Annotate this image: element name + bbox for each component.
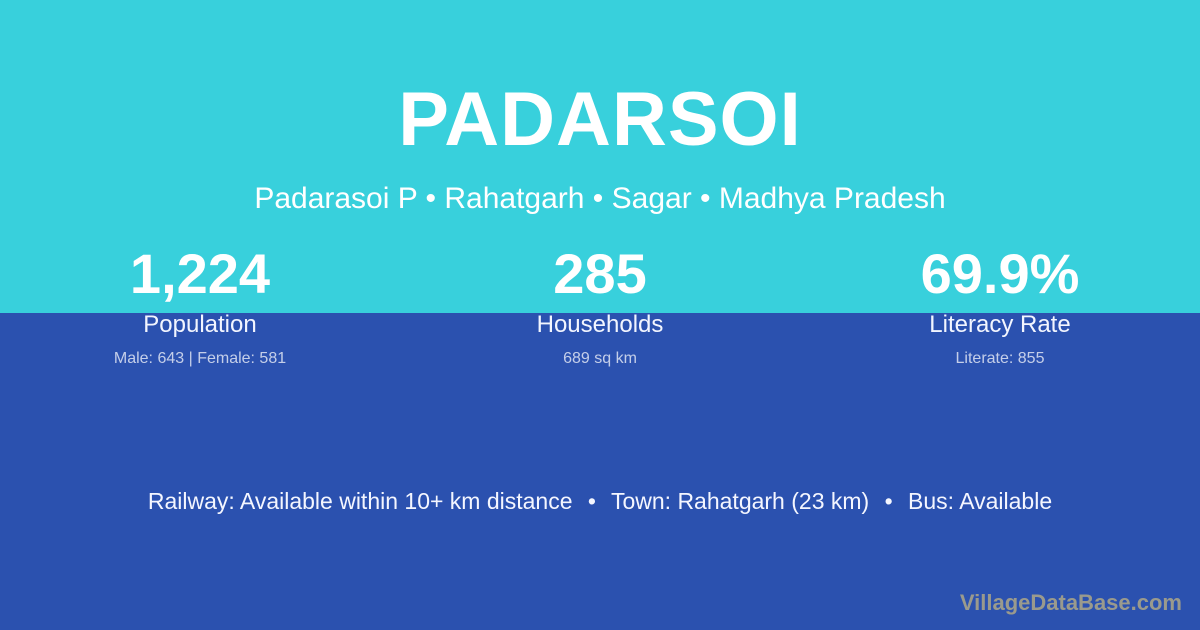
stat-population-label: Population — [0, 310, 400, 340]
amenity-railway: Railway: Available within 10+ km distanc… — [148, 488, 573, 514]
stat-households-value: 285 — [400, 243, 800, 305]
stat-population-value: 1,224 — [0, 243, 400, 305]
stat-literacy-rate-label: Literacy Rate — [800, 310, 1200, 340]
breadcrumb: Padarasoi P • Rahatgarh • Sagar • Madhya… — [0, 181, 1200, 217]
stat-population: 1,224 Population Male: 643 | Female: 581 — [0, 243, 400, 370]
stat-households: 285 Households 689 sq km — [400, 243, 800, 370]
stat-households-label: Households — [400, 310, 800, 340]
amenity-bus: Bus: Available — [908, 488, 1052, 514]
amenity-separator-2: • — [876, 486, 902, 516]
stat-population-sub: Male: 643 | Female: 581 — [0, 348, 400, 370]
stats-row: 1,224 Population Male: 643 | Female: 581… — [0, 243, 1200, 370]
amenity-separator-1: • — [579, 486, 605, 516]
amenities-line: Railway: Available within 10+ km distanc… — [0, 486, 1200, 516]
amenity-town: Town: Rahatgarh (23 km) — [611, 488, 869, 514]
stat-literacy-rate: 69.9% Literacy Rate Literate: 855 — [800, 243, 1200, 370]
stat-literacy-rate-sub: Literate: 855 — [800, 348, 1200, 370]
stat-households-sub: 689 sq km — [400, 348, 800, 370]
site-brand: VillageDataBase.com — [960, 589, 1182, 617]
stat-literacy-rate-value: 69.9% — [800, 243, 1200, 305]
page-title: PADARSOI — [0, 82, 1200, 158]
village-info-card: PADARSOI Padarasoi P • Rahatgarh • Sagar… — [0, 0, 1200, 630]
